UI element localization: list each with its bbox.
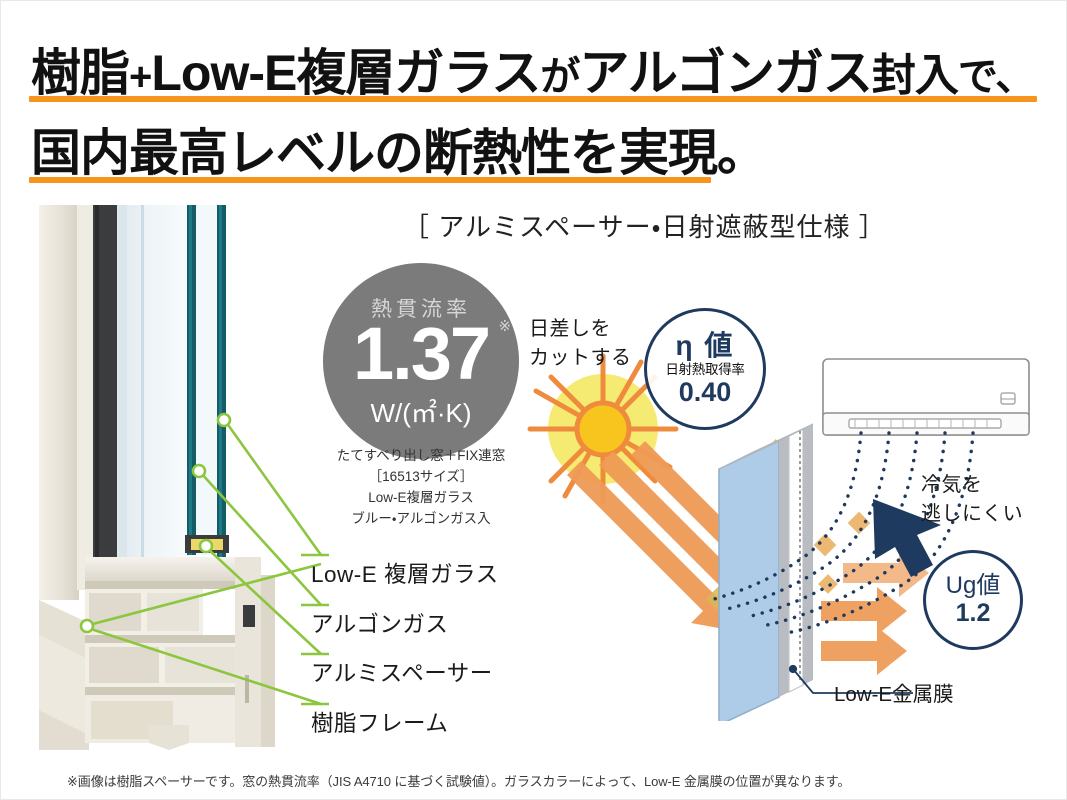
headline-underline-2: [29, 177, 711, 183]
spec-subtitle: ［ アルミスペーサー・日射遮蔽型仕様 ］: [403, 207, 886, 244]
headline-line-2: 国内最高レベルの断熱性を実現。: [31, 113, 766, 185]
headline-line-2-text: 国内最高レベルの断熱性を実現。: [31, 125, 766, 181]
eta-subtitle: 日射熱取得率: [665, 363, 744, 378]
headline-part-lowe: Low-E複層ガラス: [151, 45, 540, 101]
headline-part-argon: アルゴンガス: [579, 45, 872, 101]
uvalue-number-text: 1.37: [353, 312, 489, 395]
headline-part-de: で、: [958, 55, 1034, 99]
window-cross-section-photo: [29, 205, 329, 750]
sun-cut-line-1: 日差しを: [529, 315, 632, 344]
headline-underline-1: [29, 96, 1037, 102]
eta-value: 0.40: [679, 379, 732, 406]
callout-label-lowe-glass: Low-E 複層ガラス: [311, 557, 499, 589]
eta-value-badge: η 値 日射熱取得率 0.40: [644, 308, 766, 430]
lowe-film-label: Low-E金属膜: [834, 677, 954, 707]
spec-note-line-2: ［16513サイズ］: [301, 467, 541, 488]
cold-air-text: 冷気を 逃しにくい: [921, 471, 1023, 529]
ug-value: 1.2: [956, 601, 991, 626]
callout-label-argon-gas: アルゴンガス: [311, 607, 448, 639]
headline-part-ga: が: [540, 55, 579, 99]
eta-title: η 値: [676, 332, 735, 360]
heat-transmission-badge: 熱貫流率 1.37※ W/(㎡·K): [323, 263, 519, 459]
headline-part-sealed: 封入: [872, 51, 958, 100]
uvalue-asterisk: ※: [498, 319, 509, 334]
spec-note: たてすべり出し窓＋FIX連窓 ［16513サイズ］ Low-E複層ガラス ブルー…: [301, 446, 541, 530]
sun-cut-line-2: カットする: [529, 344, 632, 373]
air-conditioner-icon: [823, 359, 1029, 435]
footnote-disclaimer: ※画像は樹脂スペーサーです。窓の熱貫流率（JIS A4710 に基づく試験値）。…: [67, 771, 850, 790]
spec-note-line-4: ブルー・アルゴンガス入: [301, 509, 541, 530]
uvalue-unit: W/(㎡·K): [370, 393, 471, 430]
callout-label-aluminium-spacer: アルミスペーサー: [311, 656, 493, 688]
spec-note-line-3: Low-E複層ガラス: [301, 488, 541, 509]
callout-label-resin-frame: 樹脂フレーム: [311, 706, 448, 738]
ug-value-badge: Ug値 1.2: [923, 550, 1023, 650]
spec-note-line-1: たてすべり出し窓＋FIX連窓: [301, 446, 541, 467]
infographic-page: 樹脂+Low-E複層ガラスがアルゴンガス封入で、 国内最高レベルの断熱性を実現。…: [0, 0, 1067, 800]
headline-part-plus: +: [129, 55, 151, 99]
cold-air-line-2: 逃しにくい: [921, 500, 1023, 529]
sun-cut-text: 日差しを カットする: [529, 315, 632, 373]
headline-line-1: 樹脂+Low-E複層ガラスがアルゴンガス封入で、: [31, 33, 1034, 105]
ug-title: Ug値: [946, 574, 1001, 598]
cold-air-line-1: 冷気を: [921, 471, 1023, 500]
headline-part-jushi: 樹脂: [31, 45, 129, 101]
uvalue-number: 1.37※: [353, 317, 489, 391]
